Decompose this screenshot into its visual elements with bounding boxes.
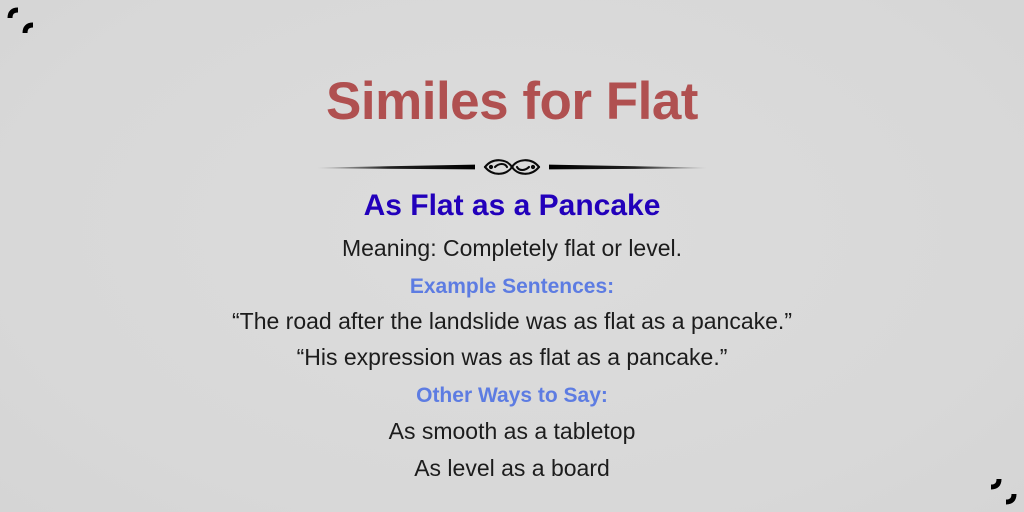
page-title: Similes for Flat bbox=[0, 74, 1024, 130]
simile-entry: As Flat as a Pancake Meaning: Completely… bbox=[0, 186, 1024, 482]
other-ways-to-say-label: Other Ways to Say: bbox=[0, 383, 1024, 409]
ornamental-divider-icon bbox=[317, 152, 707, 182]
simile-meaning: Meaning: Completely flat or level. bbox=[0, 234, 1024, 263]
example-sentence-2: “His expression was as flat as a pancake… bbox=[0, 343, 1024, 372]
simile-heading: As Flat as a Pancake bbox=[0, 186, 1024, 225]
example-sentence-1: “The road after the landslide was as fla… bbox=[0, 307, 1024, 336]
alternative-phrase-2: As level as a board bbox=[0, 454, 1024, 483]
alternative-phrase-1: As smooth as a tabletop bbox=[0, 417, 1024, 446]
example-sentences-label: Example Sentences: bbox=[0, 274, 1024, 300]
poster-canvas: Similes for Flat bbox=[0, 0, 1024, 512]
title-block: Similes for Flat bbox=[0, 74, 1024, 130]
